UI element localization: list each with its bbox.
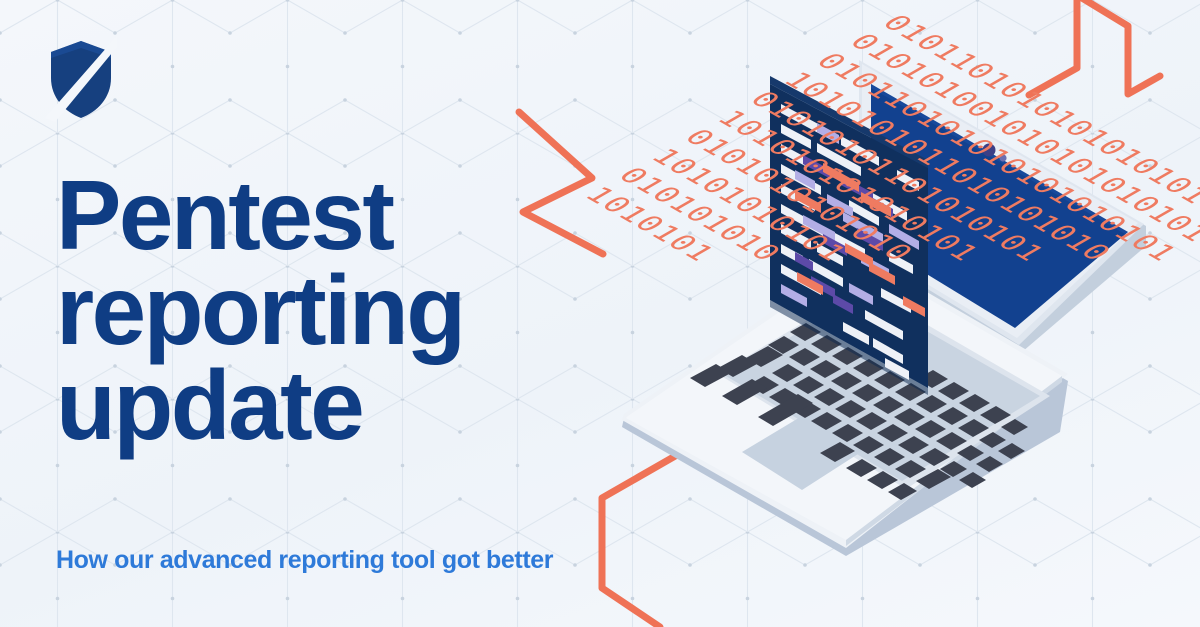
binary-row: 101010101010101 — [707, 105, 1112, 339]
webcam-icon — [983, 144, 996, 157]
hero-copy: Pentest reporting update — [56, 168, 676, 453]
binary-row: 01010101101010101 — [740, 86, 1145, 320]
binary-row: 0101010101010 — [674, 124, 1079, 358]
keyboard-keys — [690, 310, 1028, 500]
binary-row: 0101101010101010101 — [872, 10, 1200, 244]
hero-banner: 0101101010101010101 01010100101010101010… — [0, 0, 1200, 627]
laptop-lid — [859, 60, 1146, 352]
binary-row: 0101010010101010101010 — [839, 29, 1200, 263]
binary-row: 1010101011010101010 — [773, 67, 1178, 301]
code-editor-panel — [770, 76, 928, 395]
webcam-indicator-icon — [999, 154, 1006, 161]
hero-subtitle: How our advanced reporting tool got bett… — [56, 546, 553, 575]
binary-row: 010110101010101010101 — [806, 48, 1200, 282]
page-title: Pentest reporting update — [56, 168, 676, 453]
shield-slash-icon — [45, 36, 117, 122]
laptop-base — [622, 252, 1068, 556]
trackpad — [742, 410, 872, 490]
code-lines — [781, 104, 925, 380]
binary-row: 10101010101 — [641, 143, 1046, 377]
zigzag-top-right-icon — [1029, 0, 1160, 95]
